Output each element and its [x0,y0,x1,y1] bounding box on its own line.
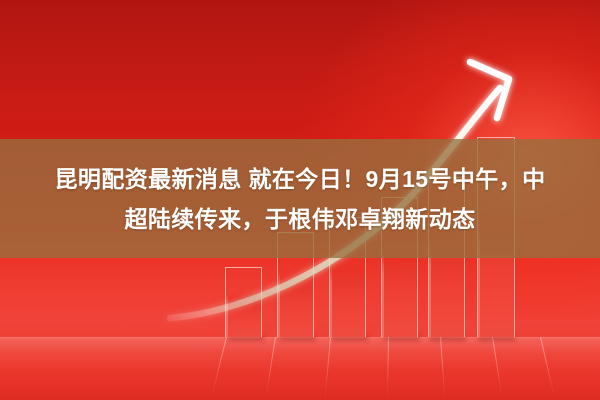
headline-line-1: 昆明配资最新消息 就在今日！9月15号中午，中 [55,159,546,199]
bar-1 [225,267,262,337]
banner-image: 昆明配资最新消息 就在今日！9月15号中午，中 超陆续传来，于根伟邓卓翔新动态 [0,0,600,400]
headline-line-2: 超陆续传来，于根伟邓卓翔新动态 [125,199,476,239]
caption-overlay: 昆明配资最新消息 就在今日！9月15号中午，中 超陆续传来，于根伟邓卓翔新动态 [0,139,600,258]
